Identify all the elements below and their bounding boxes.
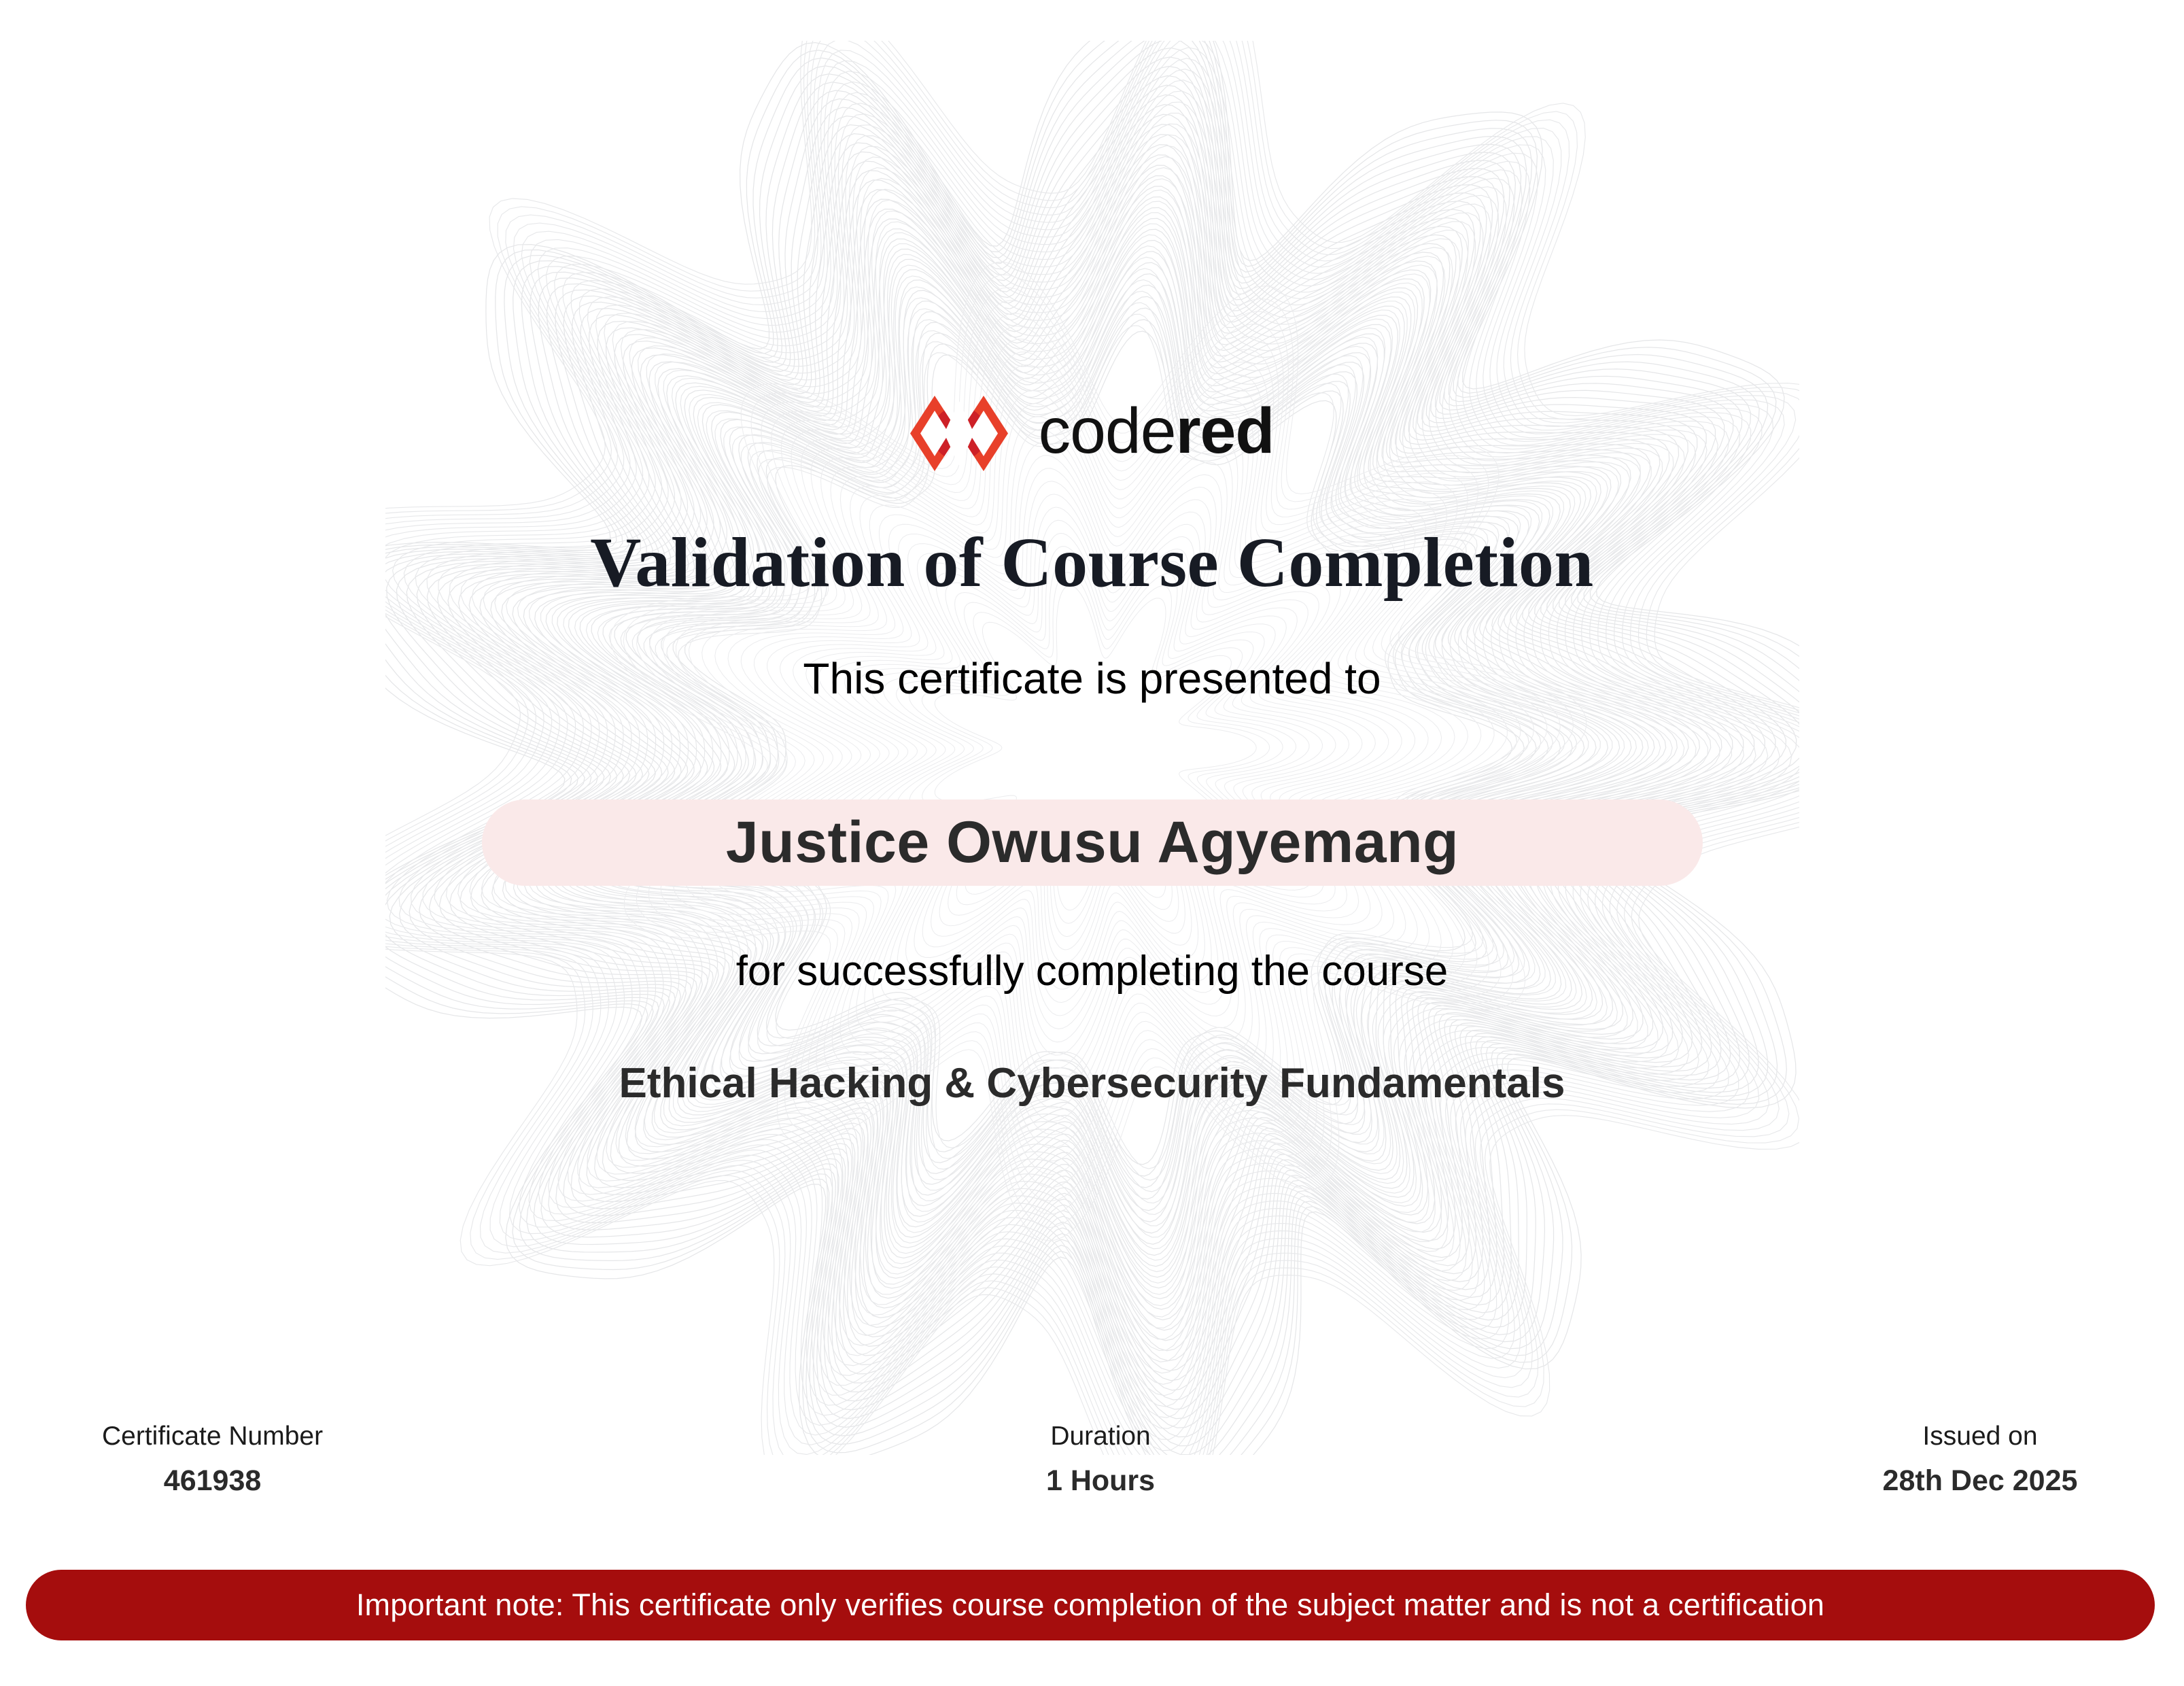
brand-wordmark: codered xyxy=(1039,399,1275,468)
brand-logo: codered xyxy=(0,392,2184,474)
meta-issued-on-label: Issued on xyxy=(1878,1420,2082,1453)
meta-issued-on-value: 28th Dec 2025 xyxy=(1878,1463,2082,1498)
certificate-page: codered Validation of Course Completion … xyxy=(0,0,2184,1686)
certificate-metadata-row: Certificate Number 461938 Duration 1 Hou… xyxy=(102,1420,2082,1498)
recipient-name: Justice Owusu Agyemang xyxy=(482,799,1703,886)
meta-duration-label: Duration xyxy=(999,1420,1202,1453)
codered-diamond-logo-icon xyxy=(910,394,1009,472)
certificate-content: codered Validation of Course Completion … xyxy=(0,0,2184,1686)
important-note-text: Important note: This certificate only ve… xyxy=(356,1587,1824,1623)
meta-duration: Duration 1 Hours xyxy=(999,1420,1202,1498)
important-note-banner: Important note: This certificate only ve… xyxy=(26,1570,2155,1640)
completion-label: for successfully completing the course xyxy=(0,946,2184,997)
meta-issued-on: Issued on 28th Dec 2025 xyxy=(1878,1420,2082,1498)
meta-certificate-number-label: Certificate Number xyxy=(102,1420,323,1453)
course-title: Ethical Hacking & Cybersecurity Fundamen… xyxy=(0,1059,2184,1109)
brand-wordmark-red: red xyxy=(1176,395,1275,467)
presented-to-label: This certificate is presented to xyxy=(0,653,2184,705)
meta-certificate-number-value: 461938 xyxy=(102,1463,323,1498)
brand-wordmark-code: code xyxy=(1039,395,1176,467)
meta-duration-value: 1 Hours xyxy=(999,1463,1202,1498)
meta-certificate-number: Certificate Number 461938 xyxy=(102,1420,323,1498)
page-title: Validation of Course Completion xyxy=(0,523,2184,602)
